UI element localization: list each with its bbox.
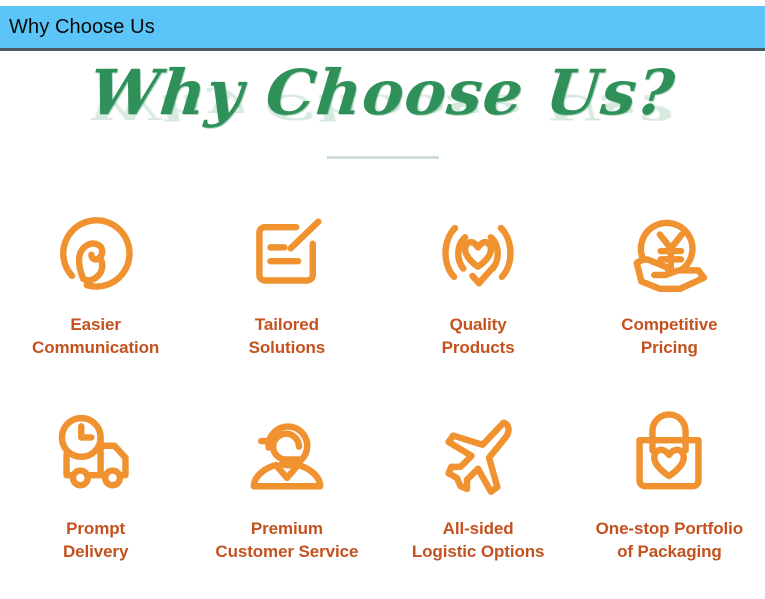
heart-signal-check-icon <box>430 204 526 300</box>
airplane-icon <box>430 406 526 502</box>
feature-item-one-stop-portfolio-of-packaging[interactable]: One-stop Portfolio of Packaging <box>574 396 765 598</box>
hero-heading-text: Why Choose Us? <box>86 56 678 129</box>
feature-label: Tailored Solutions <box>249 314 326 359</box>
shopping-bag-heart-icon <box>621 406 717 502</box>
page-title: Why Choose Us <box>0 17 155 37</box>
page-content: Why Choose Us? Why Choose Us? Easier Com… <box>0 54 765 599</box>
feature-label: Easier Communication <box>32 314 159 359</box>
feature-item-quality-products[interactable]: Quality Products <box>383 194 574 396</box>
feature-item-tailored-solutions[interactable]: Tailored Solutions <box>191 194 382 396</box>
feature-item-easier-communication[interactable]: Easier Communication <box>0 194 191 396</box>
feature-label: All-sided Logistic Options <box>412 518 545 563</box>
feature-label: One-stop Portfolio of Packaging <box>596 518 743 563</box>
hero-heading: Why Choose Us? Why Choose Us? <box>87 62 678 124</box>
hand-holding-yen-coin-icon <box>621 204 717 300</box>
document-pencil-icon <box>239 204 335 300</box>
feature-label: Premium Customer Service <box>215 518 358 563</box>
feature-label: Quality Products <box>442 314 515 359</box>
window-title-bar: Why Choose Us <box>0 6 765 51</box>
delivery-truck-clock-icon <box>48 406 144 502</box>
headset-person-icon <box>239 406 335 502</box>
feature-item-all-sided-logistic-options[interactable]: All-sided Logistic Options <box>383 396 574 598</box>
ear-in-circle-icon <box>48 204 144 300</box>
feature-item-premium-customer-service[interactable]: Premium Customer Service <box>191 396 382 598</box>
app-window: Why Choose Us Why Choose Us? Why Choose … <box>0 0 765 599</box>
hero-divider <box>327 156 439 159</box>
feature-item-prompt-delivery[interactable]: Prompt Delivery <box>0 396 191 598</box>
feature-label: Competitive Pricing <box>621 314 717 359</box>
feature-item-competitive-pricing[interactable]: Competitive Pricing <box>574 194 765 396</box>
feature-grid: Easier Communication Tailored Solutions <box>0 194 765 598</box>
hero-section: Why Choose Us? Why Choose Us? <box>0 54 765 174</box>
feature-label: Prompt Delivery <box>63 518 128 563</box>
